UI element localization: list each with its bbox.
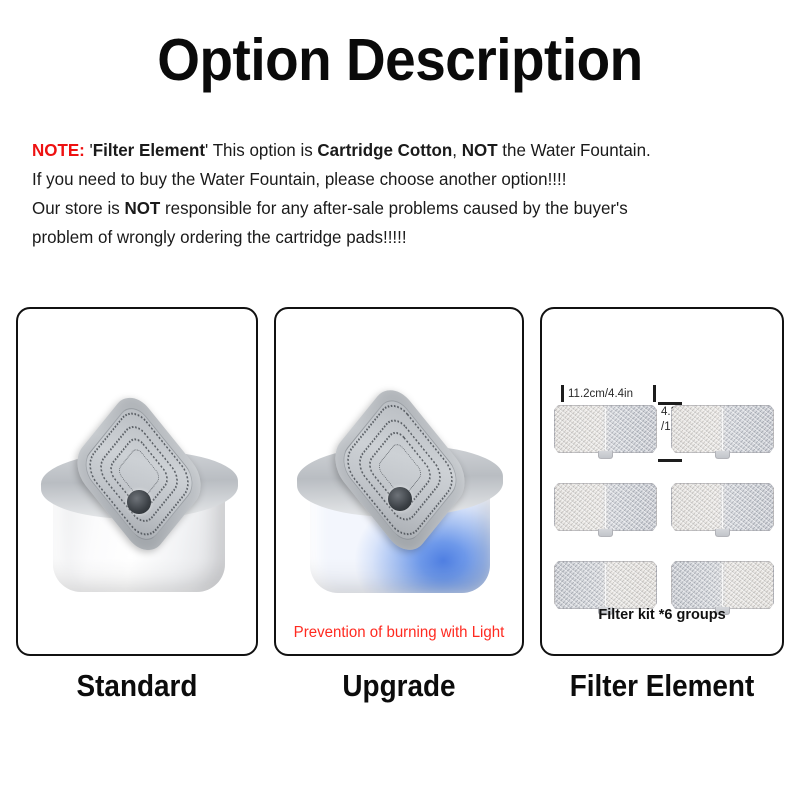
- filter-pad: [554, 561, 657, 609]
- filter-pad-body: [671, 483, 774, 531]
- panel-standard[interactable]: [16, 307, 258, 656]
- label-standard: Standard: [28, 668, 246, 704]
- filter-pad-body: [554, 405, 657, 453]
- note-tail-1: the Water Fountain.: [498, 140, 651, 160]
- note-post-3: responsible for any after-sale problems …: [160, 198, 627, 218]
- page-title: Option Description: [28, 26, 772, 94]
- water-fountain-standard-image: [32, 395, 246, 609]
- label-upgrade: Upgrade: [287, 668, 512, 704]
- filter-pad-body: [671, 561, 774, 609]
- filter-pad-body: [554, 561, 657, 609]
- filter-pad-body: [671, 405, 774, 453]
- filter-kit-caption: Filter kit *6 groups: [542, 607, 782, 623]
- filter-pad-seam: [722, 486, 724, 528]
- label-filter-element: Filter Element: [552, 668, 772, 704]
- note-bold-cartridge-cotton: Cartridge Cotton: [317, 140, 452, 160]
- filter-pad-seam: [722, 564, 724, 606]
- filter-pad-tab: [715, 451, 730, 459]
- note-mid-1: ' This option is: [205, 140, 317, 160]
- dimension-width-label: 11.2cm/4.4in: [568, 388, 633, 400]
- filter-pad-seam: [605, 408, 607, 450]
- filter-pad: [554, 483, 657, 531]
- filter-pad-body: [554, 483, 657, 531]
- filter-pad-tab: [715, 529, 730, 537]
- note-line-4: problem of wrongly ordering the cartridg…: [32, 223, 761, 252]
- panel-labels: Standard Upgrade Filter Element: [0, 668, 800, 718]
- dimension-tick-right: [653, 385, 656, 402]
- dimension-tick-left: [561, 385, 564, 402]
- water-fountain-upgrade-image: [288, 387, 512, 611]
- filter-kit-image: 11.2cm/4.4in 4.3 cm /1.7in: [542, 309, 782, 654]
- filter-pad-grid: [554, 405, 774, 610]
- note-line-1: NOTE: 'Filter Element' This option is Ca…: [32, 136, 761, 165]
- note-line-2: If you need to buy the Water Fountain, p…: [32, 165, 761, 194]
- note-pre-3: Our store is: [32, 198, 124, 218]
- panel-upgrade[interactable]: Prevention of burning with Light: [274, 307, 524, 656]
- option-description-page: Option Description NOTE: 'Filter Element…: [0, 0, 800, 800]
- note-bold-filter-element: Filter Element: [93, 140, 205, 160]
- filter-pad: [671, 483, 774, 531]
- filter-pad-tab: [598, 451, 613, 459]
- note-quote-open: ': [85, 140, 93, 160]
- panel-filter-element[interactable]: 11.2cm/4.4in 4.3 cm /1.7in: [540, 307, 784, 656]
- note-block: NOTE: 'Filter Element' This option is Ca…: [32, 136, 761, 252]
- fountain-spout-hole: [127, 490, 151, 514]
- filter-pad: [554, 405, 657, 453]
- upgrade-caption: Prevention of burning with Light: [280, 624, 519, 642]
- filter-pad: [671, 405, 774, 453]
- product-panels: Prevention of burning with Light 11.2cm/…: [0, 307, 800, 656]
- note-label: NOTE:: [32, 140, 85, 160]
- note-bold-not-1: NOT: [462, 140, 498, 160]
- note-bold-not-2: NOT: [124, 198, 160, 218]
- filter-pad: [671, 561, 774, 609]
- filter-pad-seam: [605, 486, 607, 528]
- filter-pad-tab: [598, 529, 613, 537]
- filter-pad-seam: [722, 408, 724, 450]
- note-mid-2: ,: [452, 140, 461, 160]
- filter-pad-seam: [605, 564, 607, 606]
- note-line-3: Our store is NOT responsible for any aft…: [32, 194, 761, 223]
